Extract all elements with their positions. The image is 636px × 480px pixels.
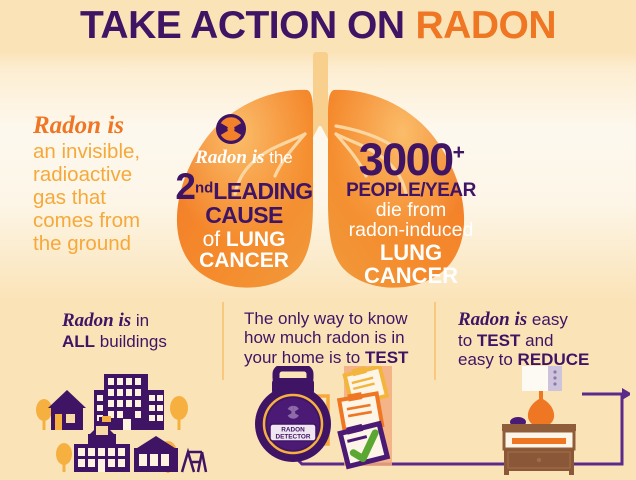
house-door <box>55 414 62 430</box>
title-part-2: RADON <box>415 6 556 45</box>
left-lung-cause-word: CAUSE <box>174 205 314 226</box>
right-lung-number: 3000+ <box>336 139 486 182</box>
right-lung-line-4: CANCER <box>336 265 486 287</box>
infographic-poster: TAKE ACTION ON RADON Radon is an invisib… <box>0 0 636 480</box>
drawer-knob <box>537 458 541 462</box>
lamp-icon <box>522 366 562 424</box>
nightstand-illustration <box>470 360 620 475</box>
left-lung-leading-word: LEADING <box>213 178 312 204</box>
caption-left-rest-2: buildings <box>100 332 167 351</box>
left-lung-lung: LUNG <box>226 228 286 251</box>
caption-right-test: TEST <box>477 331 520 350</box>
left-lung-lead: Radon is the <box>174 148 314 168</box>
caption-middle-line-3: your home is to <box>244 348 360 367</box>
right-lung-number-value: 3000 <box>359 134 453 185</box>
caption-middle: The only way to know how much radon is i… <box>244 309 434 367</box>
left-lung-of: of <box>203 228 221 251</box>
right-lung-line-2: radon-induced <box>336 221 486 241</box>
nightstand-furniture <box>502 424 576 475</box>
caption-left-italic: Radon is <box>62 310 131 331</box>
radon-detector-icon: RADON DETECTOR <box>255 368 331 462</box>
caption-left: Radon is in ALL buildings <box>62 310 222 351</box>
caption-left-bold: ALL <box>62 332 95 351</box>
caption-left-rest-1: in <box>136 311 149 330</box>
right-lung-plus: + <box>453 141 464 164</box>
radon-detector-illustration: RADON DETECTOR <box>252 366 432 474</box>
house-window <box>66 414 75 423</box>
left-lung-headline: 2ndLEADING <box>174 170 314 204</box>
detector-label-line-2: DETECTOR <box>275 434 310 441</box>
community-building-icon <box>134 436 178 472</box>
left-lung-ordinal: nd <box>195 179 213 196</box>
left-lung-lead-rest: the <box>269 148 293 167</box>
left-lung-cancer: CANCER <box>199 249 289 272</box>
right-lung-text-block: 3000+ PEOPLE/YEAR die from radon-induced… <box>336 139 486 288</box>
left-lung-lead-italic: Radon is <box>195 147 264 168</box>
left-lung-number: 2 <box>175 166 195 207</box>
caption-middle-line-1: The only way to know <box>244 309 407 328</box>
caption-middle-line-2: how much radon is in <box>244 328 405 347</box>
left-lung-sub: of LUNG CANCER <box>174 229 314 272</box>
books <box>512 438 566 444</box>
buildings-illustration <box>22 366 222 474</box>
radiation-trefoil-icon <box>216 114 246 144</box>
divider-left <box>222 302 224 380</box>
title-part-1: TAKE ACTION ON <box>80 6 404 45</box>
playground-icon <box>182 452 206 472</box>
arrow-head-icon <box>622 388 630 400</box>
caption-right-line-2-pre: to <box>458 331 472 350</box>
left-lung-text-block: Radon is the 2ndLEADING CAUSE of LUNG CA… <box>174 148 314 272</box>
caption-right-line-2-post: and <box>525 331 553 350</box>
right-lung-line-3: LUNG <box>336 242 486 264</box>
page-title: TAKE ACTION ON RADON <box>0 0 636 50</box>
detector-label-line-1: RADON <box>281 427 305 434</box>
house-icon <box>48 390 86 430</box>
caption-right-italic: Radon is <box>458 309 527 330</box>
right-lung-people-year: PEOPLE/YEAR <box>336 181 486 200</box>
caption-right-rest-1: easy <box>532 310 568 329</box>
caption-middle-test: TEST <box>365 348 408 367</box>
